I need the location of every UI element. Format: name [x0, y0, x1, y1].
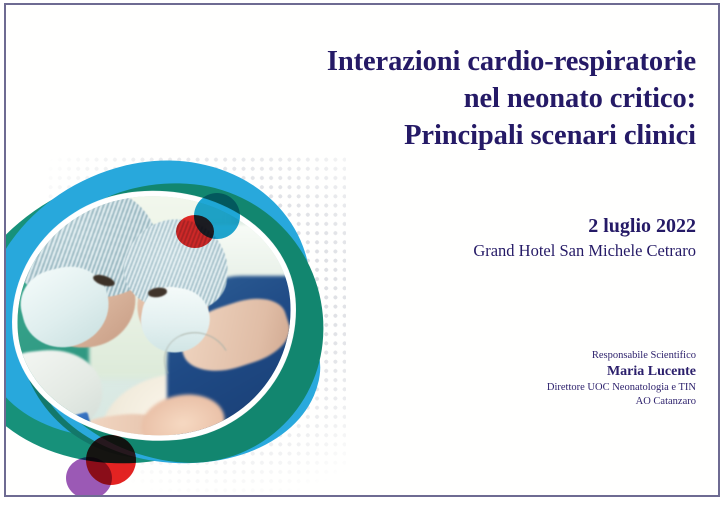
- circle-pair-bottom-icon: [66, 435, 146, 495]
- scientific-director-credits: Responsabile Scientifico Maria Lucente D…: [226, 349, 696, 408]
- event-date: 2 luglio 2022: [226, 213, 696, 239]
- photo-yellow-marker: [263, 418, 274, 426]
- circle-purple-icon: [66, 457, 112, 495]
- credits-person-name: Maria Lucente: [226, 363, 696, 381]
- credits-job-title: Direttore UOC Neonatologia e TIN: [226, 381, 696, 395]
- slide-title-line-3: Principali scenari clinici: [226, 117, 696, 154]
- slide-title: Interazioni cardio-respiratorie nel neon…: [226, 43, 696, 154]
- credits-role-label: Responsabile Scientifico: [226, 349, 696, 363]
- event-details: 2 luglio 2022 Grand Hotel San Michele Ce…: [226, 213, 696, 262]
- circle-red-icon: [176, 215, 214, 248]
- slide-canvas: Interazioni cardio-respiratorie nel neon…: [4, 3, 720, 497]
- slide-title-line-1: Interazioni cardio-respiratorie: [226, 43, 696, 80]
- credits-organization: AO Catanzaro: [226, 395, 696, 409]
- slide-title-line-2: nel neonato critico:: [226, 80, 696, 117]
- event-venue: Grand Hotel San Michele Cetraro: [226, 239, 696, 262]
